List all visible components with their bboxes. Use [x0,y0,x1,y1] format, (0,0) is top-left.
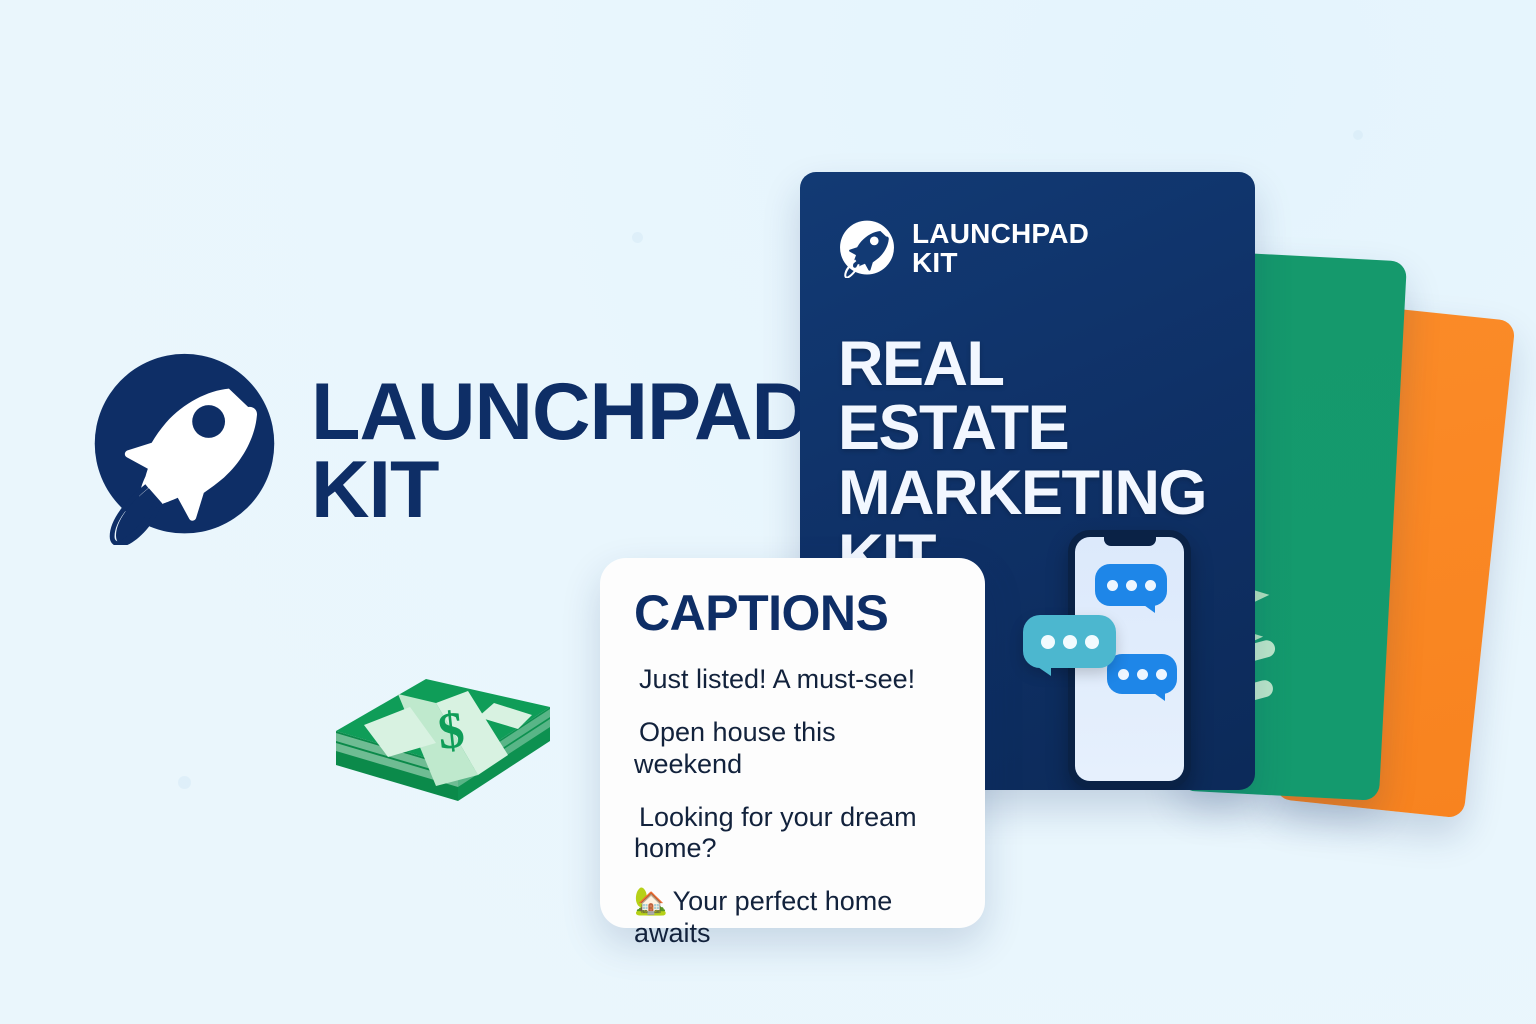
caption-text: Your perfect home awaits [634,886,892,948]
rocket-icon [88,352,281,545]
caption-text: Looking for your dream home? [634,802,917,864]
money-stack-icon: $ [318,645,568,815]
captions-title: CAPTIONS [634,588,951,638]
typing-dot [1041,635,1055,649]
caption-item: 🏡Your perfect home awaits [634,886,951,950]
caption-item: Just listed! A must-see! [634,664,951,696]
caption-text: Open house this weekend [634,717,836,779]
caption-text: Just listed! A must-see! [639,664,915,694]
typing-dot [1063,635,1077,649]
brand-lockup: LAUNCHPAD KIT [88,352,809,545]
typing-dot [1118,669,1129,680]
smartphone-icon [1068,530,1191,788]
chat-bubble-blue-top [1095,564,1167,606]
product-card-logo: LAUNCHPAD KIT [838,220,1089,278]
rocket-icon [838,220,896,278]
caption-item: Looking for your dream home? [634,802,951,866]
phone-notch [1104,537,1156,546]
typing-dot [1085,635,1099,649]
chat-bubble-teal [1023,615,1116,668]
typing-dot [1145,580,1156,591]
caption-item: Open house this weekend [634,717,951,781]
caption-emoji: 🏡 [634,886,668,916]
brand-name: LAUNCHPAD KIT [311,374,809,530]
chat-bubble-blue-bottom [1107,654,1177,694]
typing-dot [1137,669,1148,680]
typing-dot [1107,580,1118,591]
product-card-logo-text: LAUNCHPAD KIT [912,220,1089,278]
captions-panel[interactable]: CAPTIONS Just listed! A must-see! Open h… [600,558,985,928]
typing-dot [1126,580,1137,591]
typing-dot [1156,669,1167,680]
poster-canvas: LAUNCHPAD KIT $ ON IG [0,0,1536,1024]
